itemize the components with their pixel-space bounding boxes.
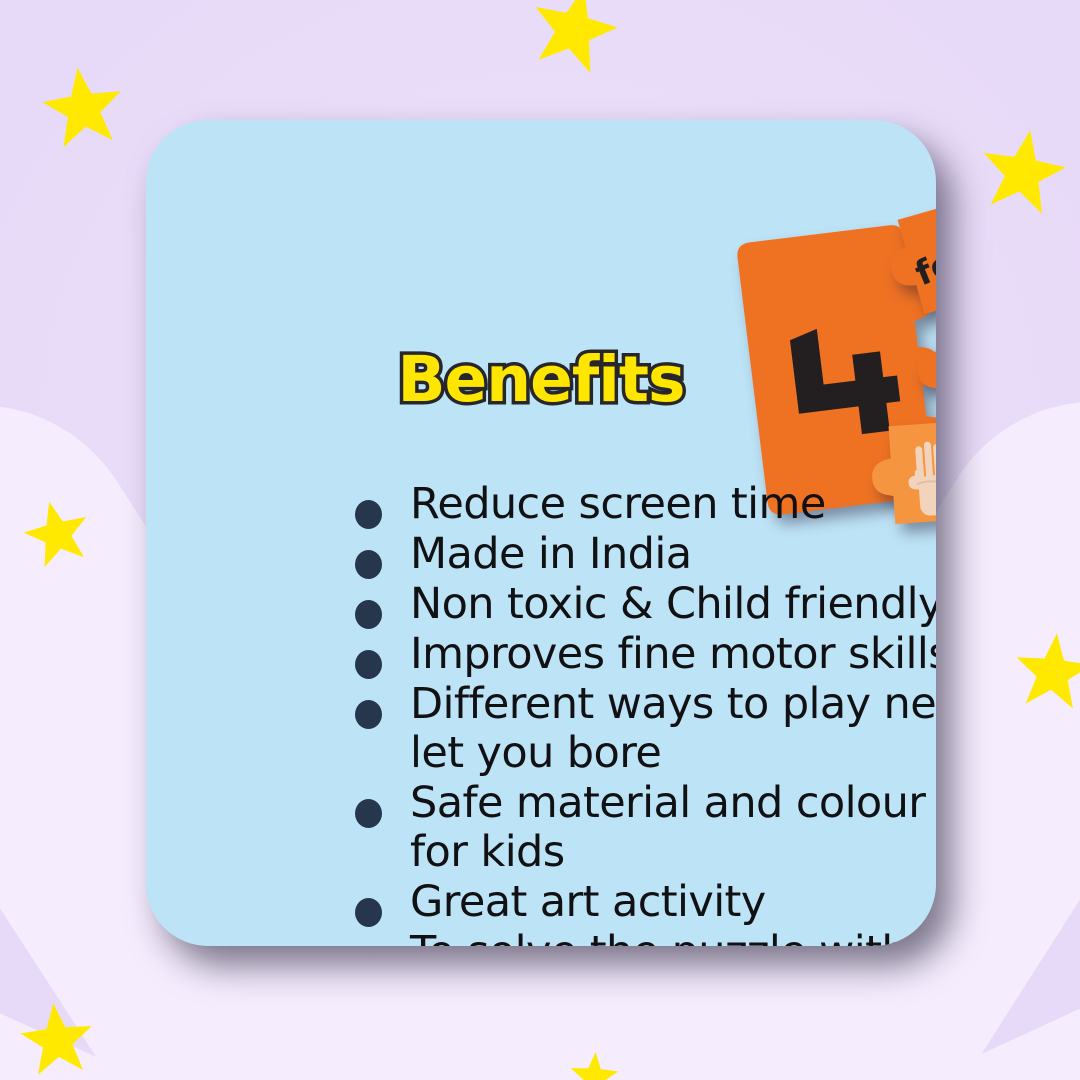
page-title: Benefits (146, 348, 936, 411)
benefit-item-label: Great art activity (410, 878, 766, 927)
benefit-item: Non toxic & Child friendly (355, 580, 936, 629)
star-bottom-center (566, 1048, 622, 1080)
poster-canvas: four (0, 0, 1080, 1080)
star-mid-right (1008, 626, 1080, 716)
word-piece: four (886, 202, 936, 314)
benefit-item: Reduce screen time (355, 480, 936, 529)
star-bottom-left (14, 996, 100, 1080)
bullet-dot-icon (355, 500, 382, 529)
benefit-item-label: Different ways to play never let you bor… (410, 680, 936, 778)
benefit-item: Made in India (355, 530, 936, 579)
card-inner: four (146, 120, 936, 946)
benefit-item: To solve the puzzle with ease (355, 928, 936, 946)
star-top-right (971, 119, 1075, 223)
bullet-dot-icon (355, 550, 382, 579)
star-top-left (34, 58, 131, 155)
benefit-item: Safe material and colour used for kids (355, 779, 936, 877)
benefit-item-label: Safe material and colour used for kids (410, 779, 936, 877)
bullet-dot-icon (355, 600, 382, 629)
benefits-card: four (146, 120, 936, 946)
bullet-dot-icon (355, 650, 382, 679)
benefit-item-label: To solve the puzzle with ease (410, 928, 936, 946)
benefits-list: Reduce screen timeMade in IndiaNon toxic… (355, 480, 936, 946)
benefit-item-label: Reduce screen time (410, 480, 826, 529)
bullet-dot-icon (355, 898, 382, 927)
benefit-item-label: Improves fine motor skills (410, 630, 936, 679)
benefit-item: Improves fine motor skills (355, 630, 936, 679)
benefit-item-label: Made in India (410, 530, 691, 579)
benefit-item: Different ways to play never let you bor… (355, 680, 936, 778)
bullet-dot-icon (355, 700, 382, 729)
benefit-item-label: Non toxic & Child friendly (410, 580, 936, 629)
bullet-dot-icon (355, 799, 382, 828)
benefit-item: Great art activity (355, 878, 936, 927)
